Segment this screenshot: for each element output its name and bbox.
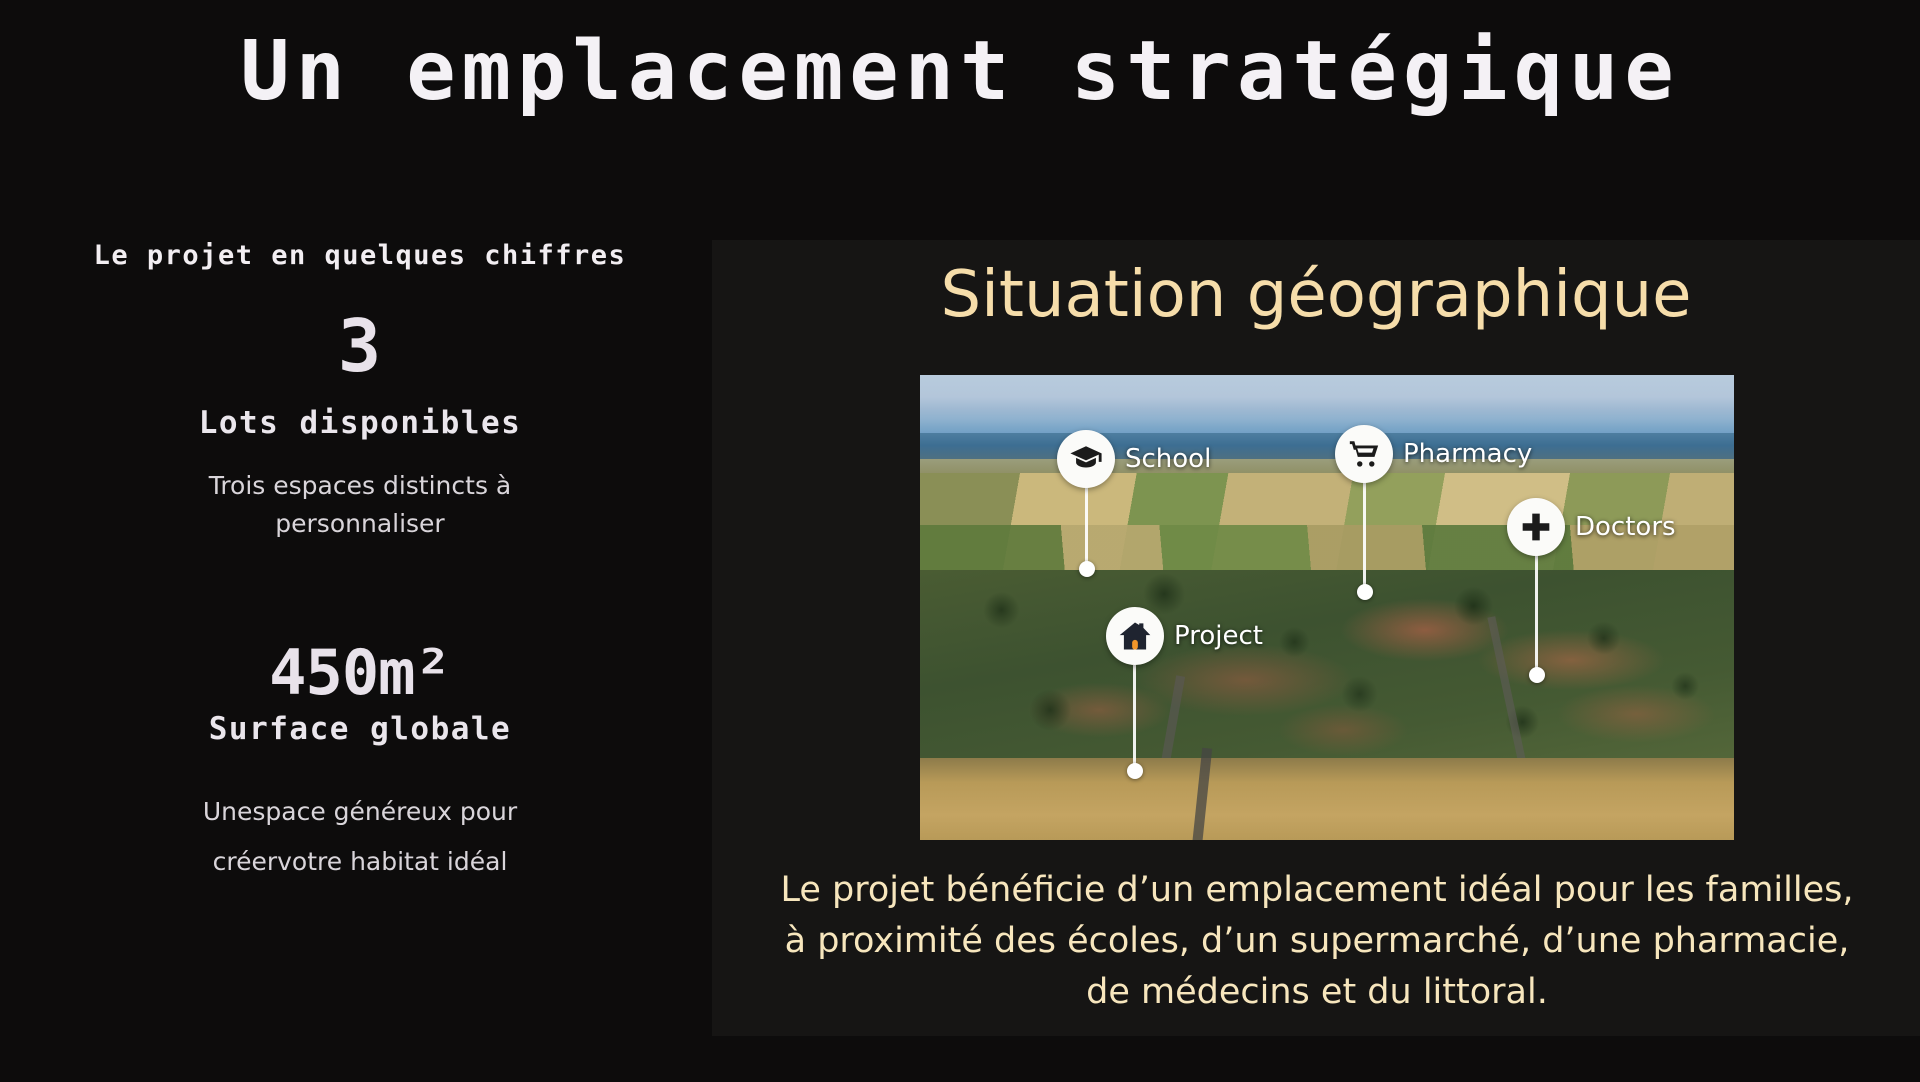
geography-panel: Situation géographique [712,240,1920,1036]
stat-block-surface: 450m² Surface globale Unespace généreux … [40,640,680,887]
aerial-map-image: School Pharmacy [920,375,1734,840]
map-trees [920,570,1734,770]
map-marker-school[interactable]: School [1057,430,1211,488]
stats-heading: Le projet en quelques chiffres [40,240,680,271]
map-marker-school-label: School [1125,444,1211,474]
map-marker-doctors-label: Doctors [1575,512,1676,542]
pharmacy-pin-line [1363,480,1366,592]
graduation-cap-icon [1057,430,1115,488]
map-sea-band [920,433,1734,461]
stat-label-lots: Lots disponibles [40,405,680,441]
medical-cross-icon [1507,498,1565,556]
project-pin-dot [1127,763,1143,779]
shopping-cart-icon [1335,425,1393,483]
stat-value-surface: 450m² [40,640,680,705]
doctors-pin-dot [1529,667,1545,683]
stat-description-lots: Trois espaces distincts à personnaliser [145,467,575,545]
pharmacy-pin-dot [1357,584,1373,600]
map-marker-pharmacy[interactable]: Pharmacy [1335,425,1532,483]
stat-label-surface: Surface globale [40,711,680,747]
school-pin-line [1085,485,1088,570]
map-marker-project[interactable]: Project [1106,607,1263,665]
map-marker-pharmacy-label: Pharmacy [1403,439,1532,469]
slide-root: Un emplacement stratégique Le projet en … [0,0,1920,1082]
map-marker-project-label: Project [1174,621,1263,651]
stat-block-lots: 3 Lots disponibles Trois espaces distinc… [40,309,680,544]
map-marker-doctors[interactable]: Doctors [1507,498,1676,556]
stat-description-surface: Unespace généreux pour créervotre habita… [145,787,575,887]
map-bottom-field [920,758,1734,840]
stats-column: Le projet en quelques chiffres 3 Lots di… [40,240,680,887]
house-icon [1106,607,1164,665]
school-pin-dot [1079,561,1095,577]
project-pin-line [1133,665,1136,770]
geography-caption: Le projet bénéficie d’un emplacement idé… [772,865,1862,1017]
stat-value-lots: 3 [40,309,680,385]
geography-panel-title: Situation géographique [712,258,1920,332]
doctors-pin-line [1535,555,1538,675]
page-title: Un emplacement stratégique [0,24,1920,119]
